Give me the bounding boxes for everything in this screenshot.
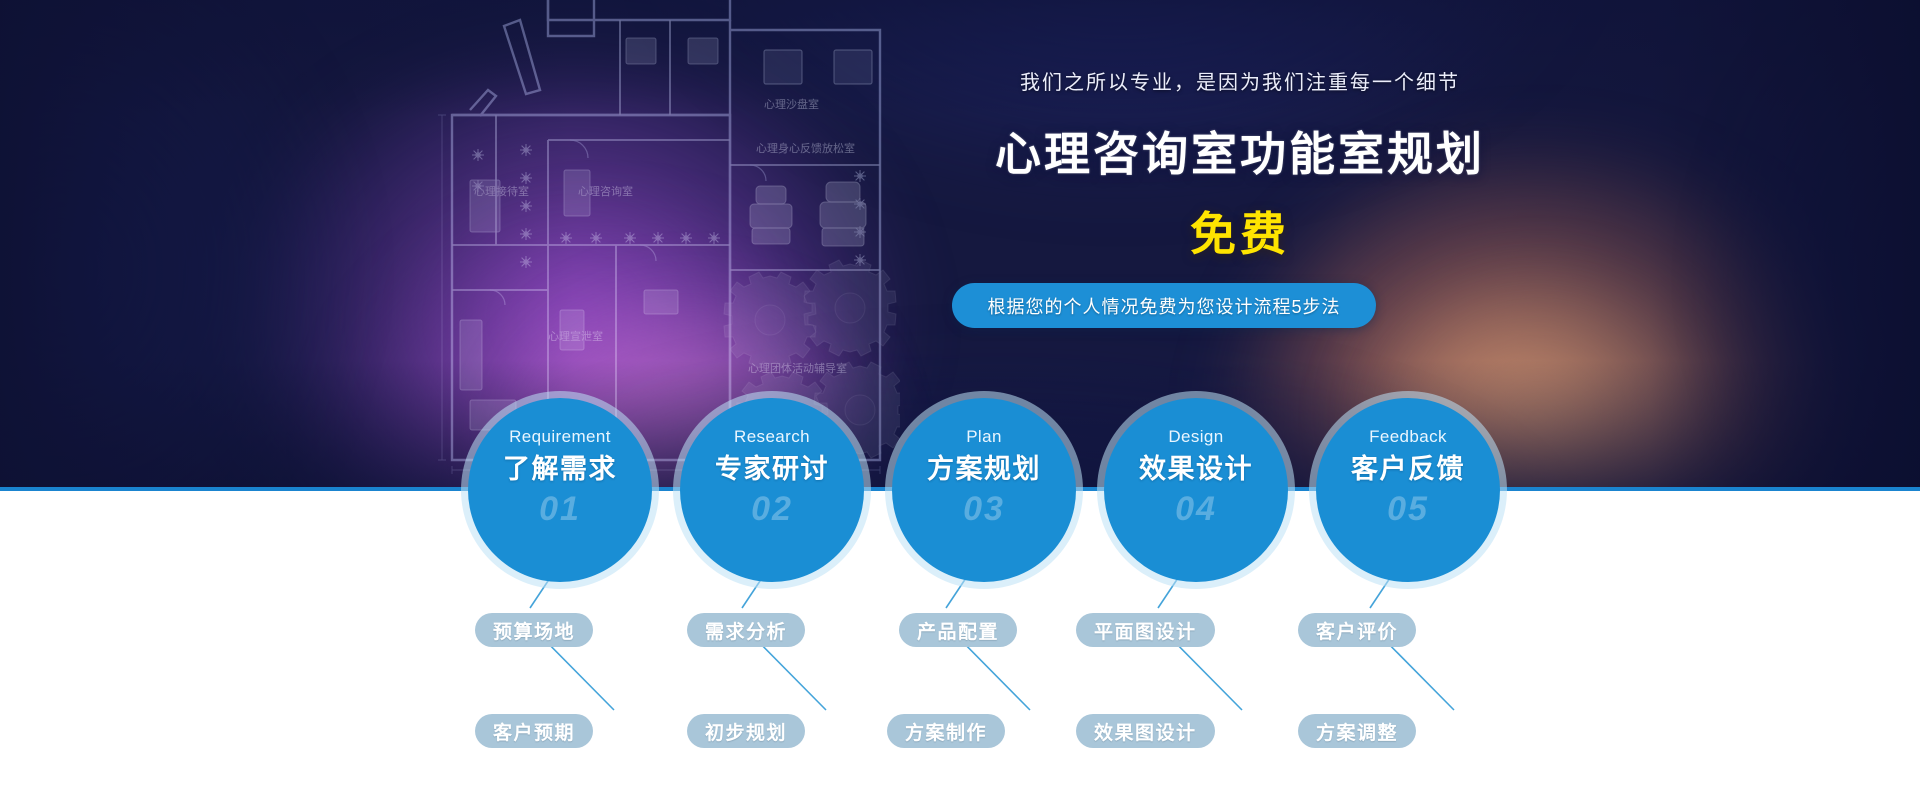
step-cn-label: 客户反馈 — [1351, 456, 1465, 483]
step-5-tag-bottom[interactable]: 方案调整 — [1298, 714, 1416, 748]
process-step-5[interactable]: Feedback 客户反馈 05 — [1316, 398, 1500, 582]
step-number: 01 — [539, 492, 581, 526]
step-cn-label: 专家研讨 — [715, 456, 829, 483]
step-number: 04 — [1175, 492, 1217, 526]
tag-label: 客户预期 — [493, 718, 575, 745]
step-en-label: Plan — [966, 428, 1002, 445]
process-step-1[interactable]: Requirement 了解需求 01 — [468, 398, 652, 582]
page-root: 心理接待室 心理咨询室 心理沙盘室 心理身心反馈放松室 心理宣泄室 心理团体活动… — [0, 0, 1920, 810]
step-en-label: Requirement — [509, 428, 611, 445]
process-step-3[interactable]: Plan 方案规划 03 — [892, 398, 1076, 582]
step-2-tag-bottom[interactable]: 初步规划 — [687, 714, 805, 748]
step-number: 02 — [751, 492, 793, 526]
step-4-tag-bottom[interactable]: 效果图设计 — [1076, 714, 1215, 748]
step-5-tag-top[interactable]: 客户评价 — [1298, 613, 1416, 647]
step-cn-label: 了解需求 — [503, 456, 617, 483]
step-en-label: Research — [734, 428, 810, 445]
tag-label: 方案调整 — [1316, 718, 1398, 745]
process-steps: Requirement 了解需求 01 Research 专家研讨 02 Pla… — [0, 0, 1920, 810]
step-2-tag-top[interactable]: 需求分析 — [687, 613, 805, 647]
step-en-label: Design — [1168, 428, 1223, 445]
tag-label: 平面图设计 — [1094, 617, 1197, 644]
step-3-tag-top[interactable]: 产品配置 — [899, 613, 1017, 647]
step-4-tag-top[interactable]: 平面图设计 — [1076, 613, 1215, 647]
process-step-2[interactable]: Research 专家研讨 02 — [680, 398, 864, 582]
step-en-label: Feedback — [1369, 428, 1447, 445]
process-step-4[interactable]: Design 效果设计 04 — [1104, 398, 1288, 582]
step-1-tag-bottom[interactable]: 客户预期 — [475, 714, 593, 748]
step-1-tag-top[interactable]: 预算场地 — [475, 613, 593, 647]
tag-label: 方案制作 — [905, 718, 987, 745]
step-number: 03 — [963, 492, 1005, 526]
step-cn-label: 效果设计 — [1139, 456, 1253, 483]
step-cn-label: 方案规划 — [927, 456, 1041, 483]
tag-label: 客户评价 — [1316, 617, 1398, 644]
tag-label: 产品配置 — [917, 617, 999, 644]
tag-label: 预算场地 — [493, 617, 575, 644]
tag-label: 效果图设计 — [1094, 718, 1197, 745]
step-3-tag-bottom[interactable]: 方案制作 — [887, 714, 1005, 748]
step-number: 05 — [1387, 492, 1429, 526]
tag-label: 需求分析 — [705, 617, 787, 644]
tag-label: 初步规划 — [705, 718, 787, 745]
